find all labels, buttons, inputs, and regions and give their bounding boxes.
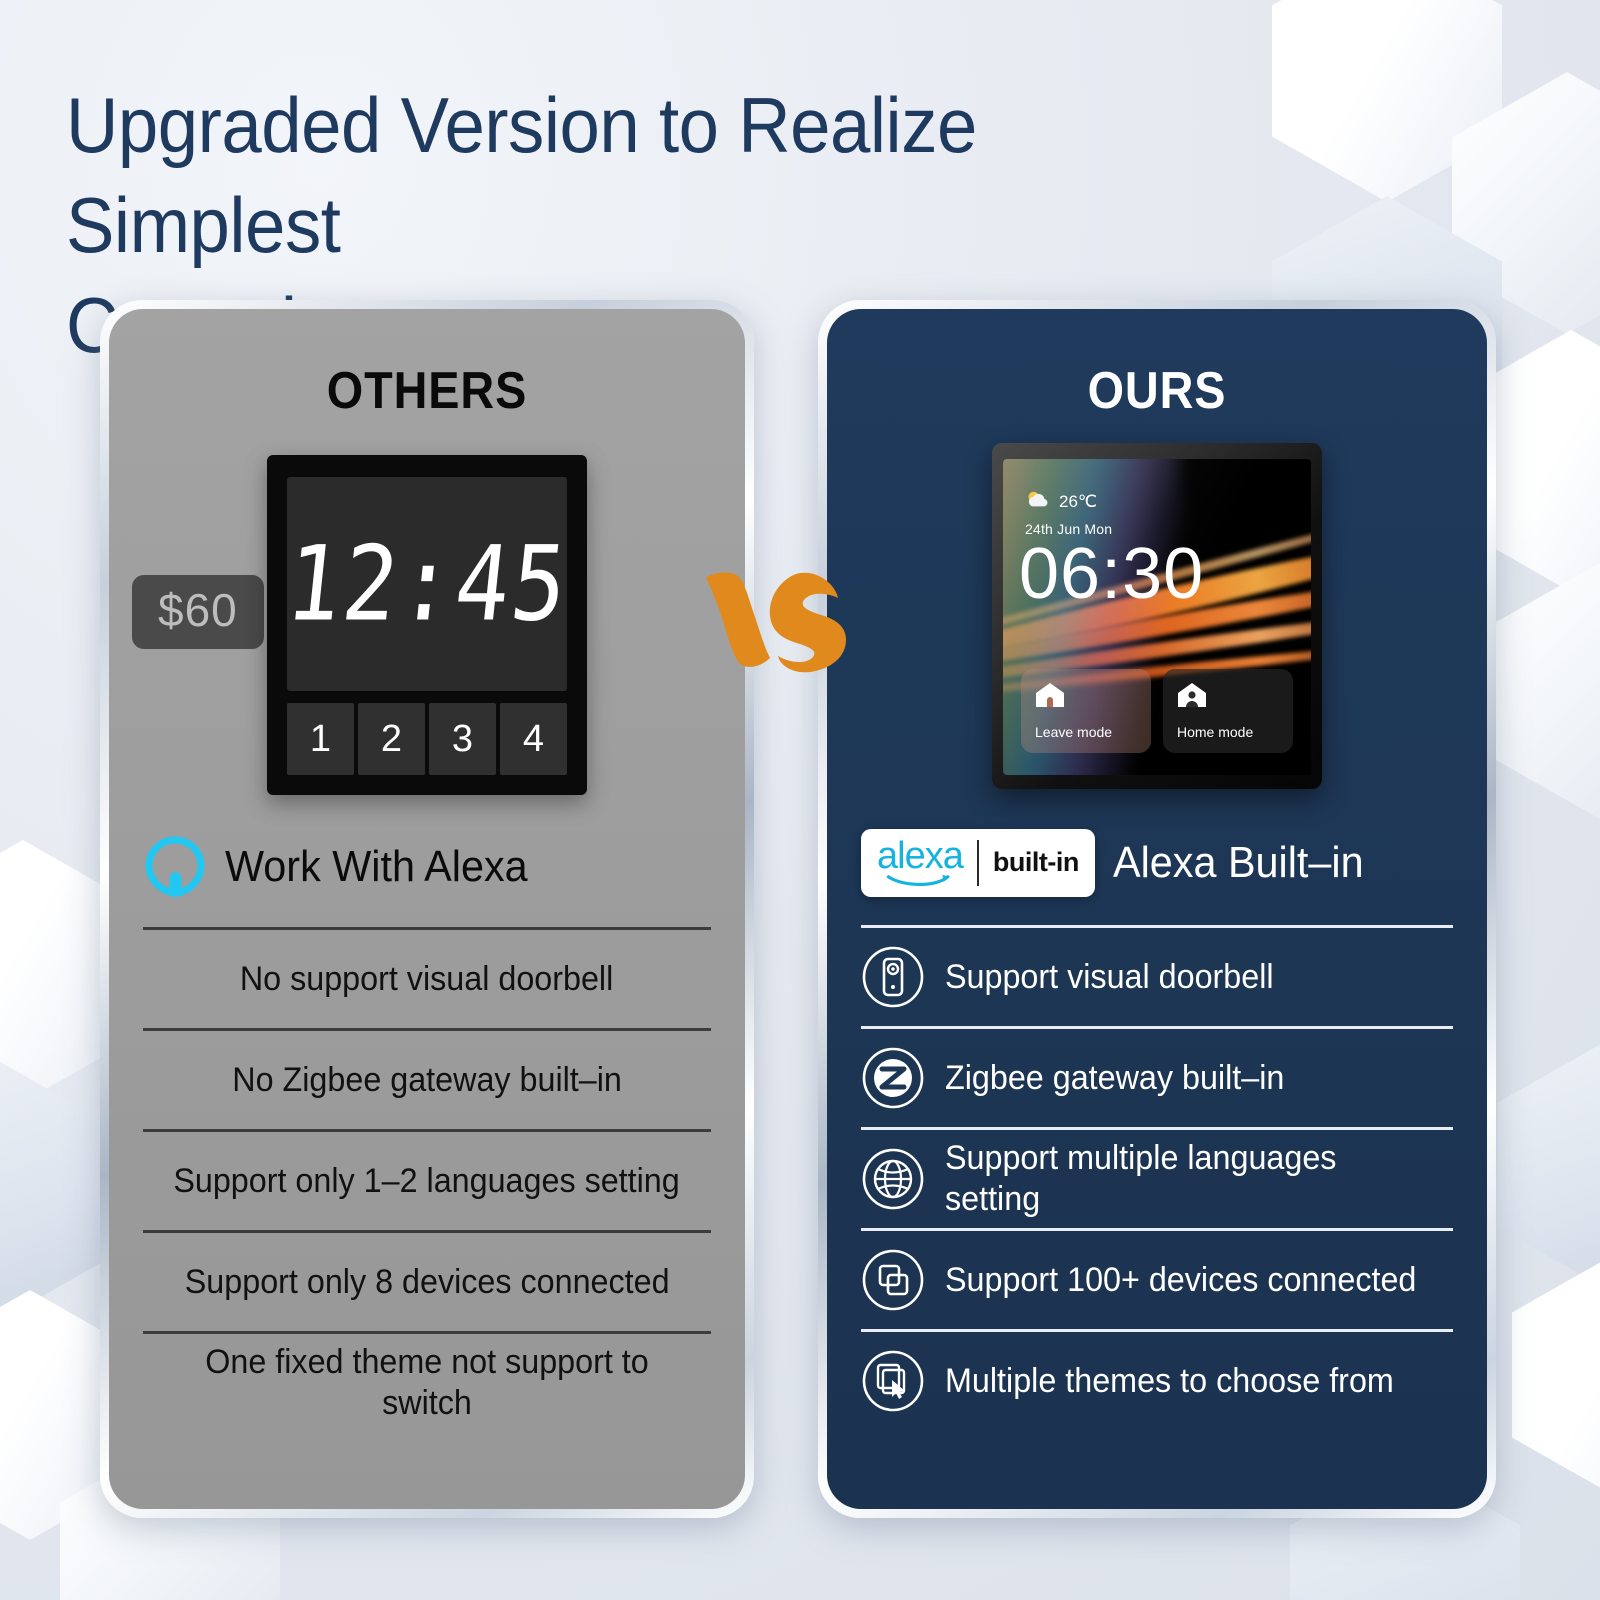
feature-label: No Zigbee gateway built–in — [232, 1060, 622, 1101]
switch-button-row: 1 2 3 4 — [287, 703, 567, 775]
hexagon-shape — [1490, 560, 1600, 822]
mode-button-row: Leave mode Home mode — [1021, 669, 1293, 753]
ours-feature-list: Support visual doorbell Zigbee gateway b… — [827, 925, 1487, 1430]
ours-heading: OURS — [860, 361, 1454, 421]
alexa-builtin-text: built-in — [993, 847, 1079, 878]
leave-mode-label: Leave mode — [1035, 724, 1139, 740]
feature-label: Zigbee gateway built–in — [945, 1058, 1284, 1099]
feature-label: One fixed theme not support to switch — [157, 1342, 697, 1424]
others-device: $60 12:45 1 2 3 4 — [267, 455, 587, 795]
alexa-ring-icon — [143, 835, 207, 899]
feature-label: Support only 8 devices connected — [185, 1262, 670, 1303]
page-title-line1: Upgraded Version to Realize Simplest — [66, 76, 1229, 276]
hexagon-shape — [1498, 1040, 1600, 1290]
switch-button-1[interactable]: 1 — [287, 703, 354, 775]
feature-row: Zigbee gateway built–in — [827, 1029, 1487, 1127]
comparison-card-ours: OURS — [818, 300, 1496, 1518]
feature-label: Support 100+ devices connected — [945, 1260, 1416, 1301]
others-heading: OTHERS — [141, 361, 713, 421]
feature-row: Support only 1–2 languages setting — [109, 1132, 745, 1230]
hexagon-shape — [0, 1060, 112, 1322]
alexa-wordmark: alexa — [877, 839, 963, 887]
others-feature-list: No support visual doorbell No Zigbee gat… — [109, 927, 745, 1432]
switch-button-2[interactable]: 2 — [358, 703, 425, 775]
feature-label: No support visual doorbell — [240, 959, 613, 1000]
lcd-time: 12:45 — [280, 524, 574, 645]
house-icon — [1035, 696, 1065, 713]
device-screen: 26℃ 24th Jun Mon 06:30 Leave mode — [1003, 459, 1311, 775]
home-mode-label: Home mode — [1177, 724, 1281, 740]
vs-badge — [700, 566, 880, 676]
globe-icon — [861, 1147, 925, 1211]
feature-row: Support multiple languages setting — [827, 1130, 1487, 1228]
ours-device: 26℃ 24th Jun Mon 06:30 Leave mode — [992, 443, 1322, 789]
feature-row: Support only 8 devices connected — [109, 1233, 745, 1331]
feature-row: Support visual doorbell — [827, 928, 1487, 1026]
switch-button-4[interactable]: 4 — [500, 703, 567, 775]
feature-row: No Zigbee gateway built–in — [109, 1031, 745, 1129]
ours-alexa-badge-row: alexa built-in Alexa Built–in — [861, 829, 1487, 897]
feature-row: Support 100+ devices connected — [827, 1231, 1487, 1329]
feature-label: Support visual doorbell — [945, 957, 1274, 998]
home-mode-button[interactable]: Home mode — [1163, 669, 1293, 753]
devices-icon — [861, 1248, 925, 1312]
comparison-card-others: OTHERS $60 12:45 1 2 3 4 Work With Alexa… — [100, 300, 754, 1518]
alexa-builtin-badge: alexa built-in — [861, 829, 1095, 897]
feature-label: Multiple themes to choose from — [945, 1361, 1394, 1402]
badge-divider — [977, 840, 979, 886]
leave-mode-button[interactable]: Leave mode — [1021, 669, 1151, 753]
amazon-smile-icon — [884, 874, 956, 887]
feature-row: No support visual doorbell — [109, 930, 745, 1028]
lcd-screen: 12:45 — [287, 477, 567, 691]
switch-button-3[interactable]: 3 — [429, 703, 496, 775]
others-alexa-label: Work With Alexa — [225, 842, 528, 892]
feature-label: Support multiple languages setting — [945, 1138, 1428, 1220]
feature-row: Multiple themes to choose from — [827, 1332, 1487, 1430]
feature-row: One fixed theme not support to switch — [109, 1334, 745, 1432]
zigbee-icon — [861, 1046, 925, 1110]
ours-alexa-label: Alexa Built–in — [1113, 838, 1364, 888]
hexagon-shape — [1512, 1250, 1600, 1500]
others-alexa-badge-row: Work With Alexa — [143, 835, 745, 899]
price-tag: $60 — [132, 575, 264, 649]
feature-label: Support only 1–2 languages setting — [174, 1161, 680, 1202]
themes-icon — [861, 1349, 925, 1413]
sun-behind-cloud-icon — [1025, 489, 1051, 515]
house-person-icon — [1177, 696, 1207, 713]
doorbell-icon — [861, 945, 925, 1009]
clock-time: 06:30 — [1019, 533, 1204, 615]
weather-widget: 26℃ 24th Jun Mon — [1025, 489, 1112, 537]
alexa-word-text: alexa — [877, 839, 963, 874]
temperature-value: 26℃ — [1059, 492, 1097, 512]
